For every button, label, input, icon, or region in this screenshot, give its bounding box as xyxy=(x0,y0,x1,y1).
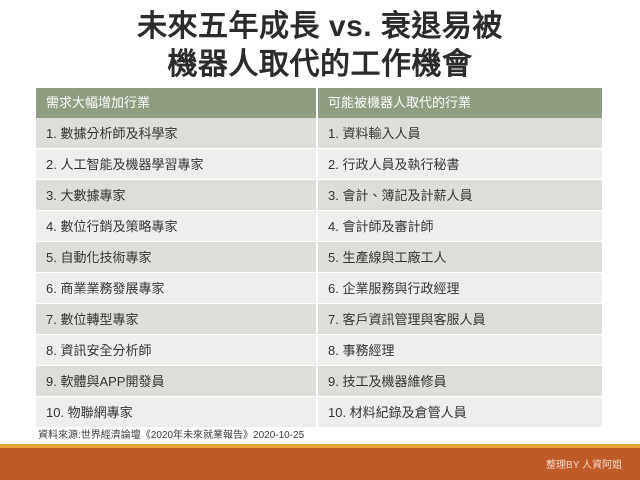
column-header-growing: 需求大幅增加行業 xyxy=(36,88,318,118)
list-item: 2. 人工智能及機器學習專家 xyxy=(36,149,316,180)
bottom-bar xyxy=(0,448,640,480)
list-item: 8. 資訊安全分析師 xyxy=(36,335,316,366)
list-item: 1. 數據分析師及科學家 xyxy=(36,118,316,149)
comparison-table: 需求大幅增加行業 可能被機器人取代的行業 1. 數據分析師及科學家 2. 人工智… xyxy=(36,88,602,428)
table-body: 1. 數據分析師及科學家 2. 人工智能及機器學習專家 3. 大數據專家 4. … xyxy=(36,118,602,428)
list-item: 7. 客戶資訊管理與客服人員 xyxy=(318,304,602,335)
column-declining-jobs: 1. 資料輸入人員 2. 行政人員及執行秘書 3. 會計、簿記及計薪人員 4. … xyxy=(318,118,602,428)
list-item: 5. 自動化技術專家 xyxy=(36,242,316,273)
list-item: 2. 行政人員及執行秘書 xyxy=(318,149,602,180)
list-item: 4. 數位行銷及策略專家 xyxy=(36,211,316,242)
list-item: 1. 資料輸入人員 xyxy=(318,118,602,149)
table-header-row: 需求大幅增加行業 可能被機器人取代的行業 xyxy=(36,88,602,118)
list-item: 9. 軟體與APP開發員 xyxy=(36,366,316,397)
list-item: 7. 數位轉型專家 xyxy=(36,304,316,335)
list-item: 10. 物聯網專家 xyxy=(36,397,316,428)
bottom-credit-text: 整理BY 人資阿姐 xyxy=(546,456,622,471)
title-line-2: 機器人取代的工作機會 xyxy=(0,46,640,84)
list-item: 8. 事務經理 xyxy=(318,335,602,366)
column-header-declining: 可能被機器人取代的行業 xyxy=(318,88,602,118)
column-growing-jobs: 1. 數據分析師及科學家 2. 人工智能及機器學習專家 3. 大數據專家 4. … xyxy=(36,118,318,428)
page-title: 未來五年成長 vs. 衰退易被 機器人取代的工作機會 xyxy=(0,8,640,84)
list-item: 3. 大數據專家 xyxy=(36,180,316,211)
list-item: 3. 會計、簿記及計薪人員 xyxy=(318,180,602,211)
slide-canvas: 未來五年成長 vs. 衰退易被 機器人取代的工作機會 需求大幅增加行業 可能被機… xyxy=(0,0,640,480)
list-item: 6. 商業業務發展專家 xyxy=(36,273,316,304)
title-line-1: 未來五年成長 vs. 衰退易被 xyxy=(0,8,640,46)
list-item: 6. 企業服務與行政經理 xyxy=(318,273,602,304)
list-item: 4. 會計師及審計師 xyxy=(318,211,602,242)
list-item: 5. 生產線與工廠工人 xyxy=(318,242,602,273)
list-item: 10. 材料紀錄及倉管人員 xyxy=(318,397,602,428)
list-item: 9. 技工及機器維修員 xyxy=(318,366,602,397)
source-note: 資料來源:世界經濟論壇《2020年未來就業報告》2020-10-25 xyxy=(38,426,304,441)
